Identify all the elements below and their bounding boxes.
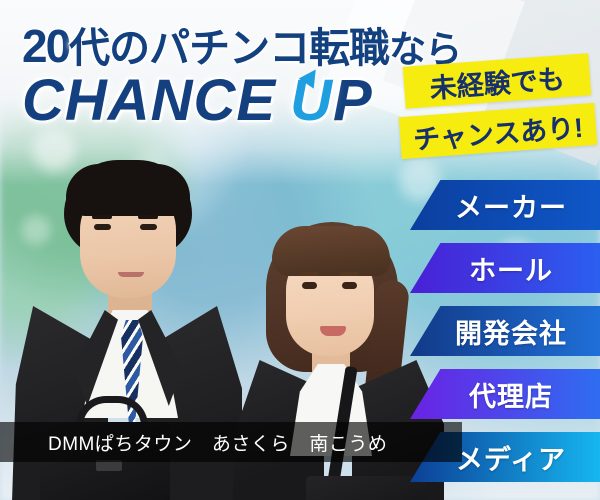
category-button-agency[interactable]: 代理店 xyxy=(410,369,600,419)
category-button-maker[interactable]: メーカー xyxy=(410,180,600,230)
category-label-developer: 開発会社 xyxy=(455,312,567,351)
category-label-media: メディア xyxy=(456,438,566,477)
category-button-hall[interactable]: ホール xyxy=(410,243,600,293)
caption-bar: DMMぱちタウン あさくら 南こうめ xyxy=(0,422,462,462)
category-label-agency: 代理店 xyxy=(469,375,553,414)
recruitment-banner[interactable]: 20代のパチンコ転職なら CHANCEUP 未経験でも チャンスあり! メーカー… xyxy=(0,0,600,500)
category-button-developer[interactable]: 開発会社 xyxy=(410,306,600,356)
category-label-maker: メーカー xyxy=(455,186,567,225)
category-label-hall: ホール xyxy=(469,249,553,288)
caption-text: DMMぱちタウン あさくら 南こうめ xyxy=(48,429,387,456)
